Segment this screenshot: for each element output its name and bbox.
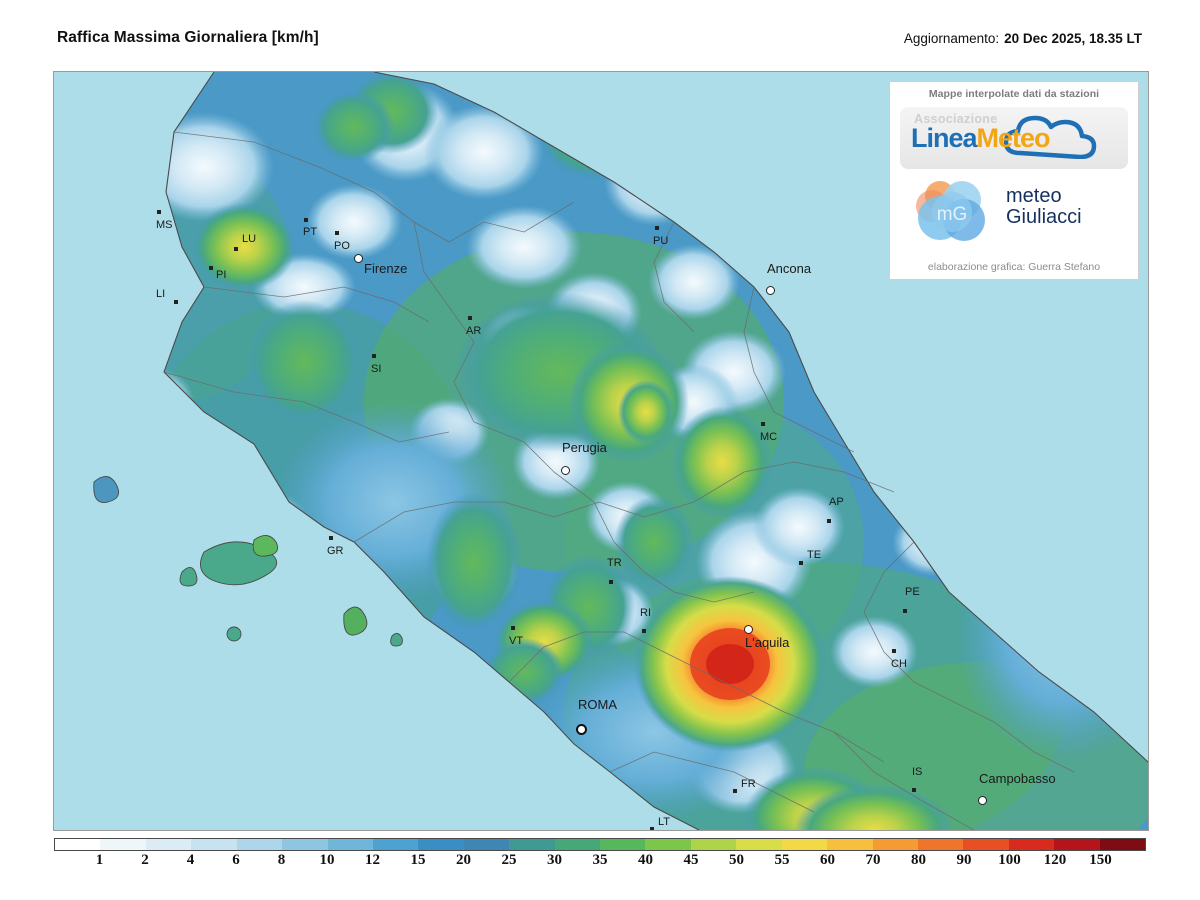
- city-marker-LI[interactable]: [174, 300, 178, 304]
- city-label-MC: MC: [760, 431, 777, 443]
- city-marker-Perugia[interactable]: [561, 466, 570, 475]
- city-label-FR: FR: [741, 778, 756, 790]
- update-timestamp: Aggiornamento:20 Dec 2025, 18.35 LT: [904, 31, 1142, 46]
- city-label-LI: LI: [156, 288, 165, 300]
- legend-swatch-4: [237, 839, 282, 850]
- legend-swatch-8: [418, 839, 463, 850]
- city-marker-Laquila[interactable]: [744, 625, 753, 634]
- city-label-CH: CH: [891, 658, 907, 670]
- weather-map-page: Raffica Massima Giornaliera [km/h] Aggio…: [0, 0, 1200, 900]
- lineameteo-word-meteo: Meteo: [977, 123, 1050, 153]
- city-label-LU: LU: [242, 233, 256, 245]
- city-label-TE: TE: [807, 549, 821, 561]
- legend-swatch-17: [827, 839, 872, 850]
- giuliacci-logo: mG meteo Giuliacci: [898, 176, 1130, 248]
- city-marker-Campobasso[interactable]: [978, 796, 987, 805]
- legend-tick-120: 120: [1044, 852, 1067, 869]
- legend-swatch-18: [873, 839, 918, 850]
- city-label-Laquila: L'aquila: [745, 635, 789, 650]
- city-label-Ancona: Ancona: [767, 261, 811, 276]
- legend-tick-35: 35: [593, 852, 608, 869]
- legend-swatch-7: [373, 839, 418, 850]
- city-marker-ROMA[interactable]: [576, 724, 587, 735]
- legend-tick-55: 55: [775, 852, 790, 869]
- city-label-VT: VT: [509, 635, 523, 647]
- city-marker-PT[interactable]: [304, 218, 308, 222]
- city-label-SI: SI: [371, 363, 381, 375]
- mg-cloud-icon: mG: [910, 178, 994, 244]
- branding-caption: Mappe interpolate dati da stazioni: [898, 88, 1130, 100]
- legend-swatch-15: [736, 839, 781, 850]
- city-label-GR: GR: [327, 545, 344, 557]
- city-marker-IS[interactable]: [912, 788, 916, 792]
- lineameteo-wordmark: LineaMeteo: [911, 125, 1050, 152]
- city-label-PI: PI: [216, 269, 226, 281]
- legend-swatch-6: [328, 839, 373, 850]
- city-marker-VT[interactable]: [511, 626, 515, 630]
- giuliacci-line2: Giuliacci: [1006, 207, 1082, 228]
- city-marker-RI[interactable]: [642, 629, 646, 633]
- city-marker-MS[interactable]: [157, 210, 161, 214]
- legend-swatch-23: [1100, 839, 1145, 850]
- city-label-Perugia: Perugia: [562, 440, 607, 455]
- legend-tick-40: 40: [638, 852, 653, 869]
- lineameteo-logo: Associazione LineaMeteo: [900, 107, 1128, 169]
- legend-swatch-22: [1054, 839, 1099, 850]
- city-label-MS: MS: [156, 219, 173, 231]
- legend-swatch-20: [963, 839, 1008, 850]
- legend-tick-6: 6: [232, 852, 240, 869]
- city-marker-PI[interactable]: [209, 266, 213, 270]
- city-marker-AR[interactable]: [468, 316, 472, 320]
- legend-swatch-16: [782, 839, 827, 850]
- city-label-LT: LT: [658, 816, 670, 828]
- map-canvas[interactable]: MSLUPIPTPOFirenzeLIARSIPUAnconaPerugiaMC…: [53, 71, 1149, 831]
- update-value: 20 Dec 2025, 18.35 LT: [1004, 31, 1142, 46]
- city-marker-PE[interactable]: [903, 609, 907, 613]
- legend-tick-10: 10: [320, 852, 335, 869]
- city-label-AP: AP: [829, 496, 844, 508]
- legend-swatch-11: [555, 839, 600, 850]
- legend-tick-80: 80: [911, 852, 926, 869]
- city-label-PT: PT: [303, 226, 317, 238]
- city-label-AR: AR: [466, 325, 481, 337]
- color-scale-labels: 1246810121520253035404550556070809010012…: [54, 852, 1146, 874]
- legend-tick-12: 12: [365, 852, 380, 869]
- legend-swatch-21: [1009, 839, 1054, 850]
- city-label-ROMA: ROMA: [578, 697, 617, 712]
- lineameteo-word-linea: Linea: [911, 123, 977, 153]
- city-marker-PU[interactable]: [655, 226, 659, 230]
- city-marker-LU[interactable]: [234, 247, 238, 251]
- legend-tick-2: 2: [141, 852, 149, 869]
- legend-swatch-19: [918, 839, 963, 850]
- city-marker-PO[interactable]: [335, 231, 339, 235]
- legend-tick-4: 4: [187, 852, 195, 869]
- city-label-Firenze: Firenze: [364, 261, 407, 276]
- city-label-IS: IS: [912, 766, 922, 778]
- legend-swatch-9: [464, 839, 509, 850]
- svg-text:mG: mG: [937, 204, 968, 225]
- color-scale-bar: [54, 838, 1146, 851]
- legend-tick-90: 90: [957, 852, 972, 869]
- legend-swatch-5: [282, 839, 327, 850]
- branding-box: Mappe interpolate dati da stazioni Assoc…: [889, 81, 1139, 280]
- city-marker-TR[interactable]: [609, 580, 613, 584]
- city-label-PU: PU: [653, 235, 668, 247]
- city-marker-FR[interactable]: [733, 789, 737, 793]
- giuliacci-wordmark: meteo Giuliacci: [1006, 186, 1082, 228]
- legend-tick-100: 100: [998, 852, 1021, 869]
- city-marker-MC[interactable]: [761, 422, 765, 426]
- legend-tick-15: 15: [411, 852, 426, 869]
- legend-swatch-3: [191, 839, 236, 850]
- legend-swatch-13: [645, 839, 690, 850]
- city-marker-Ancona[interactable]: [766, 286, 775, 295]
- city-marker-SI[interactable]: [372, 354, 376, 358]
- legend-tick-20: 20: [456, 852, 471, 869]
- legend-tick-45: 45: [684, 852, 699, 869]
- legend-swatch-0: [55, 839, 100, 850]
- city-marker-Firenze[interactable]: [354, 254, 363, 263]
- city-marker-LT[interactable]: [650, 827, 654, 830]
- city-marker-CH[interactable]: [892, 649, 896, 653]
- legend-tick-60: 60: [820, 852, 835, 869]
- legend-tick-1: 1: [96, 852, 104, 869]
- legend-tick-25: 25: [502, 852, 517, 869]
- city-label-Campobasso: Campobasso: [979, 771, 1056, 786]
- city-label-PE: PE: [905, 586, 920, 598]
- city-label-PO: PO: [334, 240, 350, 252]
- legend-tick-70: 70: [866, 852, 881, 869]
- legend-tick-30: 30: [547, 852, 562, 869]
- legend-swatch-12: [600, 839, 645, 850]
- legend-swatch-14: [691, 839, 736, 850]
- legend-swatch-10: [509, 839, 554, 850]
- city-label-TR: TR: [607, 557, 622, 569]
- city-marker-GR[interactable]: [329, 536, 333, 540]
- city-label-RI: RI: [640, 607, 651, 619]
- update-label: Aggiornamento:: [904, 31, 999, 46]
- legend-tick-50: 50: [729, 852, 744, 869]
- legend-tick-8: 8: [278, 852, 286, 869]
- giuliacci-line1: meteo: [1006, 185, 1062, 207]
- legend-swatch-2: [146, 839, 191, 850]
- legend-swatch-1: [100, 839, 145, 850]
- branding-footer: elaborazione grafica: Guerra Stefano: [890, 261, 1138, 273]
- legend-tick-150: 150: [1089, 852, 1112, 869]
- city-marker-AP[interactable]: [827, 519, 831, 523]
- city-marker-TE[interactable]: [799, 561, 803, 565]
- page-title: Raffica Massima Giornaliera [km/h]: [57, 29, 319, 47]
